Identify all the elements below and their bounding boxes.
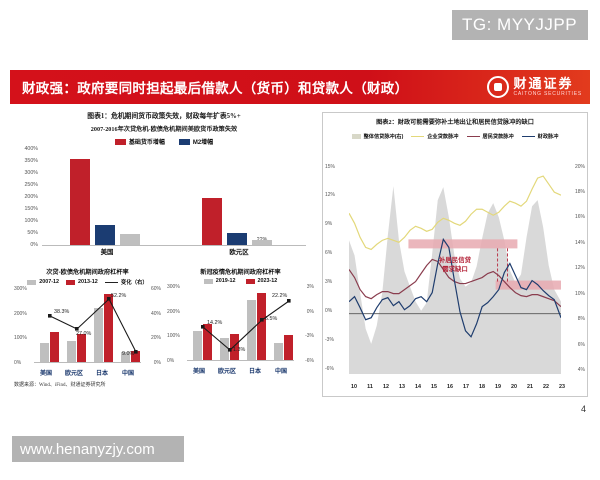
legend-label-change: 变化（右） [121,278,148,286]
legend-item-2019: 2019-12 [204,278,236,284]
x-label-cn: 中国 [122,368,134,377]
y-tick-right: -3% [305,333,314,339]
figure3-title: 次贷-欧债危机期间政府杠杆率 [14,267,161,276]
legend-swatch-navy-line [522,136,535,137]
figure1-y-axis: 0% 50% 100% 150% 200% 250% 300% 350% 400… [14,149,40,245]
y-tick-left: 0% [14,360,21,366]
legend-item-2013: 2013-12 [66,278,98,286]
y-tick-left: 15% [325,164,335,170]
line-value-label: 14.2% [207,320,222,326]
logo-chinese-name: 财通证券 [514,77,582,90]
x-tick: 15 [431,384,437,390]
x-axis-label-us: 美国 [101,247,114,256]
logo-english-name: CAITONG SECURITIES [514,92,582,97]
legend-swatch-navy [179,139,190,145]
page-title: 财政强：政府要同时担起最后借款人（货币）和贷款人（财政） [10,77,408,97]
y-tick: 150% [24,206,38,212]
y-tick-right: 20% [575,164,585,170]
y-tick-left: 200% [167,309,180,315]
y-tick-right: 60% [151,286,161,292]
x-tick: 14 [415,384,421,390]
y-tick-right: 0% [307,309,314,315]
x-tick: 16 [447,384,453,390]
y-tick-left: 6% [325,250,332,256]
legend-label-2007: 2007-12 [39,279,59,285]
figure2-annotation: 补居民信贷 需求缺口 [439,257,471,274]
line-value-label: 52.2% [111,293,126,299]
legend-label-fiscal-impulse: 财政脉冲 [538,133,559,140]
y-tick-right: -6% [305,358,314,364]
figure2-legend: 整体信贷脉冲(右) 企业贷款脉冲 居民贷款脉冲 财政脉冲 [325,133,585,140]
y-tick-left: 300% [14,286,27,292]
y-tick: 0% [30,242,38,248]
x-tick: 12 [383,384,389,390]
y-tick-right: 8% [578,316,585,322]
figure3-legend: 2007-12 2013-12 变化（右） [14,278,161,286]
y-tick-right: 12% [575,265,585,271]
y-tick: 50% [27,230,38,236]
legend-item-overall-credit: 整体信贷脉冲(右) [352,133,404,140]
legend-label-corporate-loan: 企业贷款脉冲 [427,133,458,140]
y-tick-left: 200% [14,311,27,317]
legend-item-2007: 2007-12 [27,278,59,286]
x-tick: 13 [399,384,405,390]
y-tick-left: 0% [325,308,332,314]
legend-item-fiscal-impulse: 财政脉冲 [522,133,559,140]
legend-swatch-maroon-line [467,136,480,137]
legend-item-change: 变化（右） [105,278,148,286]
y-tick-left: 100% [167,333,180,339]
y-tick-right: 6% [578,342,585,348]
logo-mark-icon [487,76,509,98]
x-tick: 10 [351,384,357,390]
x-tick: 19 [495,384,501,390]
bar-rect [95,225,115,245]
legend-item-household-loan: 居民贷款脉冲 [467,133,514,140]
legend-label-2023: 2023-12 [258,278,278,284]
x-label-jp: 日本 [249,366,261,375]
legend-swatch-yellow-line [411,136,424,137]
figure4-title: 新冠疫情危机期间政府杠杆率 [167,267,314,276]
x-label-eu: 欧元区 [65,368,83,377]
line-value-label: 1.3% [233,347,245,353]
legend-swatch-gray [27,280,36,285]
figure1-legend: 基础货币增幅 M2增幅 [14,137,314,146]
line-value-label: 22.2% [272,293,287,299]
legend-label-2013: 2013-12 [78,279,98,285]
y-tick-right: 3% [307,284,314,290]
bottom-charts-row: 次贷-欧债危机期间政府杠杆率 2007-12 2013-12 变化（右） [14,267,314,377]
y-tick-left: -6% [325,366,334,372]
company-logo: 财通证券 CAITONG SECURITIES [487,70,582,104]
figure3-area: 38.3% 27.0% 52.2% 9.0% [34,289,141,363]
bar-group-eurozone: 196% 51% 22% [202,149,272,245]
y-tick-left: -3% [325,337,334,343]
legend-item-m2: M2增幅 [179,137,213,146]
x-label-cn: 中国 [275,366,287,375]
legend-swatch-red [115,139,126,145]
figure2-chart: 图表2：财政可能需要弥补土地出让和居民信贷脉冲的缺口 整体信贷脉冲(右) 企业贷… [323,113,587,396]
line-value-label: 27.0% [76,331,91,337]
legend-item-corporate-loan: 企业贷款脉冲 [411,133,458,140]
y-tick-right: 40% [151,311,161,317]
x-tick: 11 [367,384,373,390]
bar-group-us: 360% 83% 46% [70,149,140,245]
y-tick-right: 18% [575,189,585,195]
line-value-label: 6.5% [265,316,277,322]
y-tick-right: 20% [151,335,161,341]
x-tick: 23 [559,384,565,390]
slide-header-bar: 财政强：政府要同时担起最后借款人（货币）和贷款人（财政） 财通证券 CAITON… [10,70,590,104]
y-tick-left: 3% [325,279,332,285]
y-tick-left: 100% [14,335,27,341]
bar-rect [202,198,222,245]
legend-label-household-loan: 居民贷款脉冲 [483,133,514,140]
y-tick-left: 0% [167,358,174,364]
x-tick: 21 [527,384,533,390]
figure4-chart: 新冠疫情危机期间政府杠杆率 2019-12 2023-12 300% 200% … [167,267,314,377]
line-value-label: 9.0% [122,351,134,357]
x-label-eu: 欧元区 [218,366,236,375]
y-tick-left: 9% [325,221,332,227]
x-label-jp: 日本 [96,368,108,377]
y-tick-left: 300% [167,284,180,290]
annotation-line-2: 需求缺口 [439,266,471,275]
y-tick-right: 4% [578,367,585,373]
left-panel: 图表1：危机期间货币政策失效，财政每年扩表5%+ 2007-2016年次贷危机-… [14,112,314,397]
x-axis-label-eurozone: 欧元区 [229,247,248,256]
watermark-overlay: www.henanyzjy.com [12,436,184,462]
legend-swatch-line [105,282,118,283]
source-note: 数据来源：Wind、iFind、财通证券研究所 [14,381,314,388]
annotation-line-1: 补居民信贷 [439,257,471,266]
page-number: 4 [581,404,586,414]
line-value-label: 38.3% [54,309,69,315]
figure1-plot-area: 360% 83% 46% 196% [42,149,306,246]
slide-root: TG: MYYJJPP 财政强：政府要同时担起最后借款人（货币）和贷款人（财政）… [0,0,600,480]
bar-rect [70,159,90,245]
x-tick: 20 [511,384,517,390]
y-tick: 400% [24,146,38,152]
x-tick: 17 [463,384,469,390]
y-tick: 300% [24,170,38,176]
legend-label-2019: 2019-12 [216,278,236,284]
figure2-plot-area: 补居民信贷 需求缺口 [349,165,561,374]
figure1-chart: 0% 50% 100% 150% 200% 250% 300% 350% 400… [14,149,310,261]
legend-label-base-money: 基础货币增幅 [129,137,165,146]
bar-rect [120,234,140,245]
y-tick: 100% [24,218,38,224]
legend-swatch-area [352,134,361,139]
figure4-legend: 2019-12 2023-12 [167,278,314,284]
x-label-us: 美国 [40,368,52,377]
legend-item-2023: 2023-12 [246,278,278,284]
x-tick: 18 [479,384,485,390]
x-tick: 22 [543,384,549,390]
tg-tag-overlay: TG: MYYJJPP [452,10,588,40]
y-tick-left: 12% [325,192,335,198]
figure3-plot: 300% 200% 100% 0% 60% 40% 20% 0% [14,289,161,377]
figure4-area: 14.2% 1.3% 6.5% 22.2% [187,287,294,361]
y-tick-right: 16% [575,214,585,220]
right-panel: 图表2：财政可能需要弥补土地出让和居民信贷脉冲的缺口 整体信贷脉冲(右) 企业贷… [322,112,588,397]
legend-swatch-red [246,279,255,284]
y-tick: 200% [24,194,38,200]
figure1-title: 图表1：危机期间货币政策失效，财政每年扩表5%+ [14,112,314,122]
figure4-plot: 300% 200% 100% 0% 3% 0% -3% -6% [167,287,314,375]
y-tick: 250% [24,182,38,188]
figure3-chart: 次贷-欧债危机期间政府杠杆率 2007-12 2013-12 变化（右） [14,267,161,377]
legend-label-overall-credit: 整体信贷脉冲(右) [364,133,404,140]
bar-rect [227,233,247,245]
bar-rect [252,240,272,245]
figure2-title: 图表2：财政可能需要弥补土地出让和居民信贷脉冲的缺口 [325,118,585,127]
legend-item-base-money: 基础货币增幅 [115,137,165,146]
legend-swatch-red [66,280,75,285]
legend-swatch-gray [204,279,213,284]
legend-label-m2: M2增幅 [193,137,213,146]
y-tick-right: 0% [154,360,161,366]
figure1-subtitle: 2007-2016年次贷危机-欧债危机期间美欧货币政策失效 [14,124,314,133]
y-tick: 350% [24,158,38,164]
x-label-us: 美国 [193,366,205,375]
y-tick-right: 10% [575,291,585,297]
y-tick-right: 14% [575,240,585,246]
